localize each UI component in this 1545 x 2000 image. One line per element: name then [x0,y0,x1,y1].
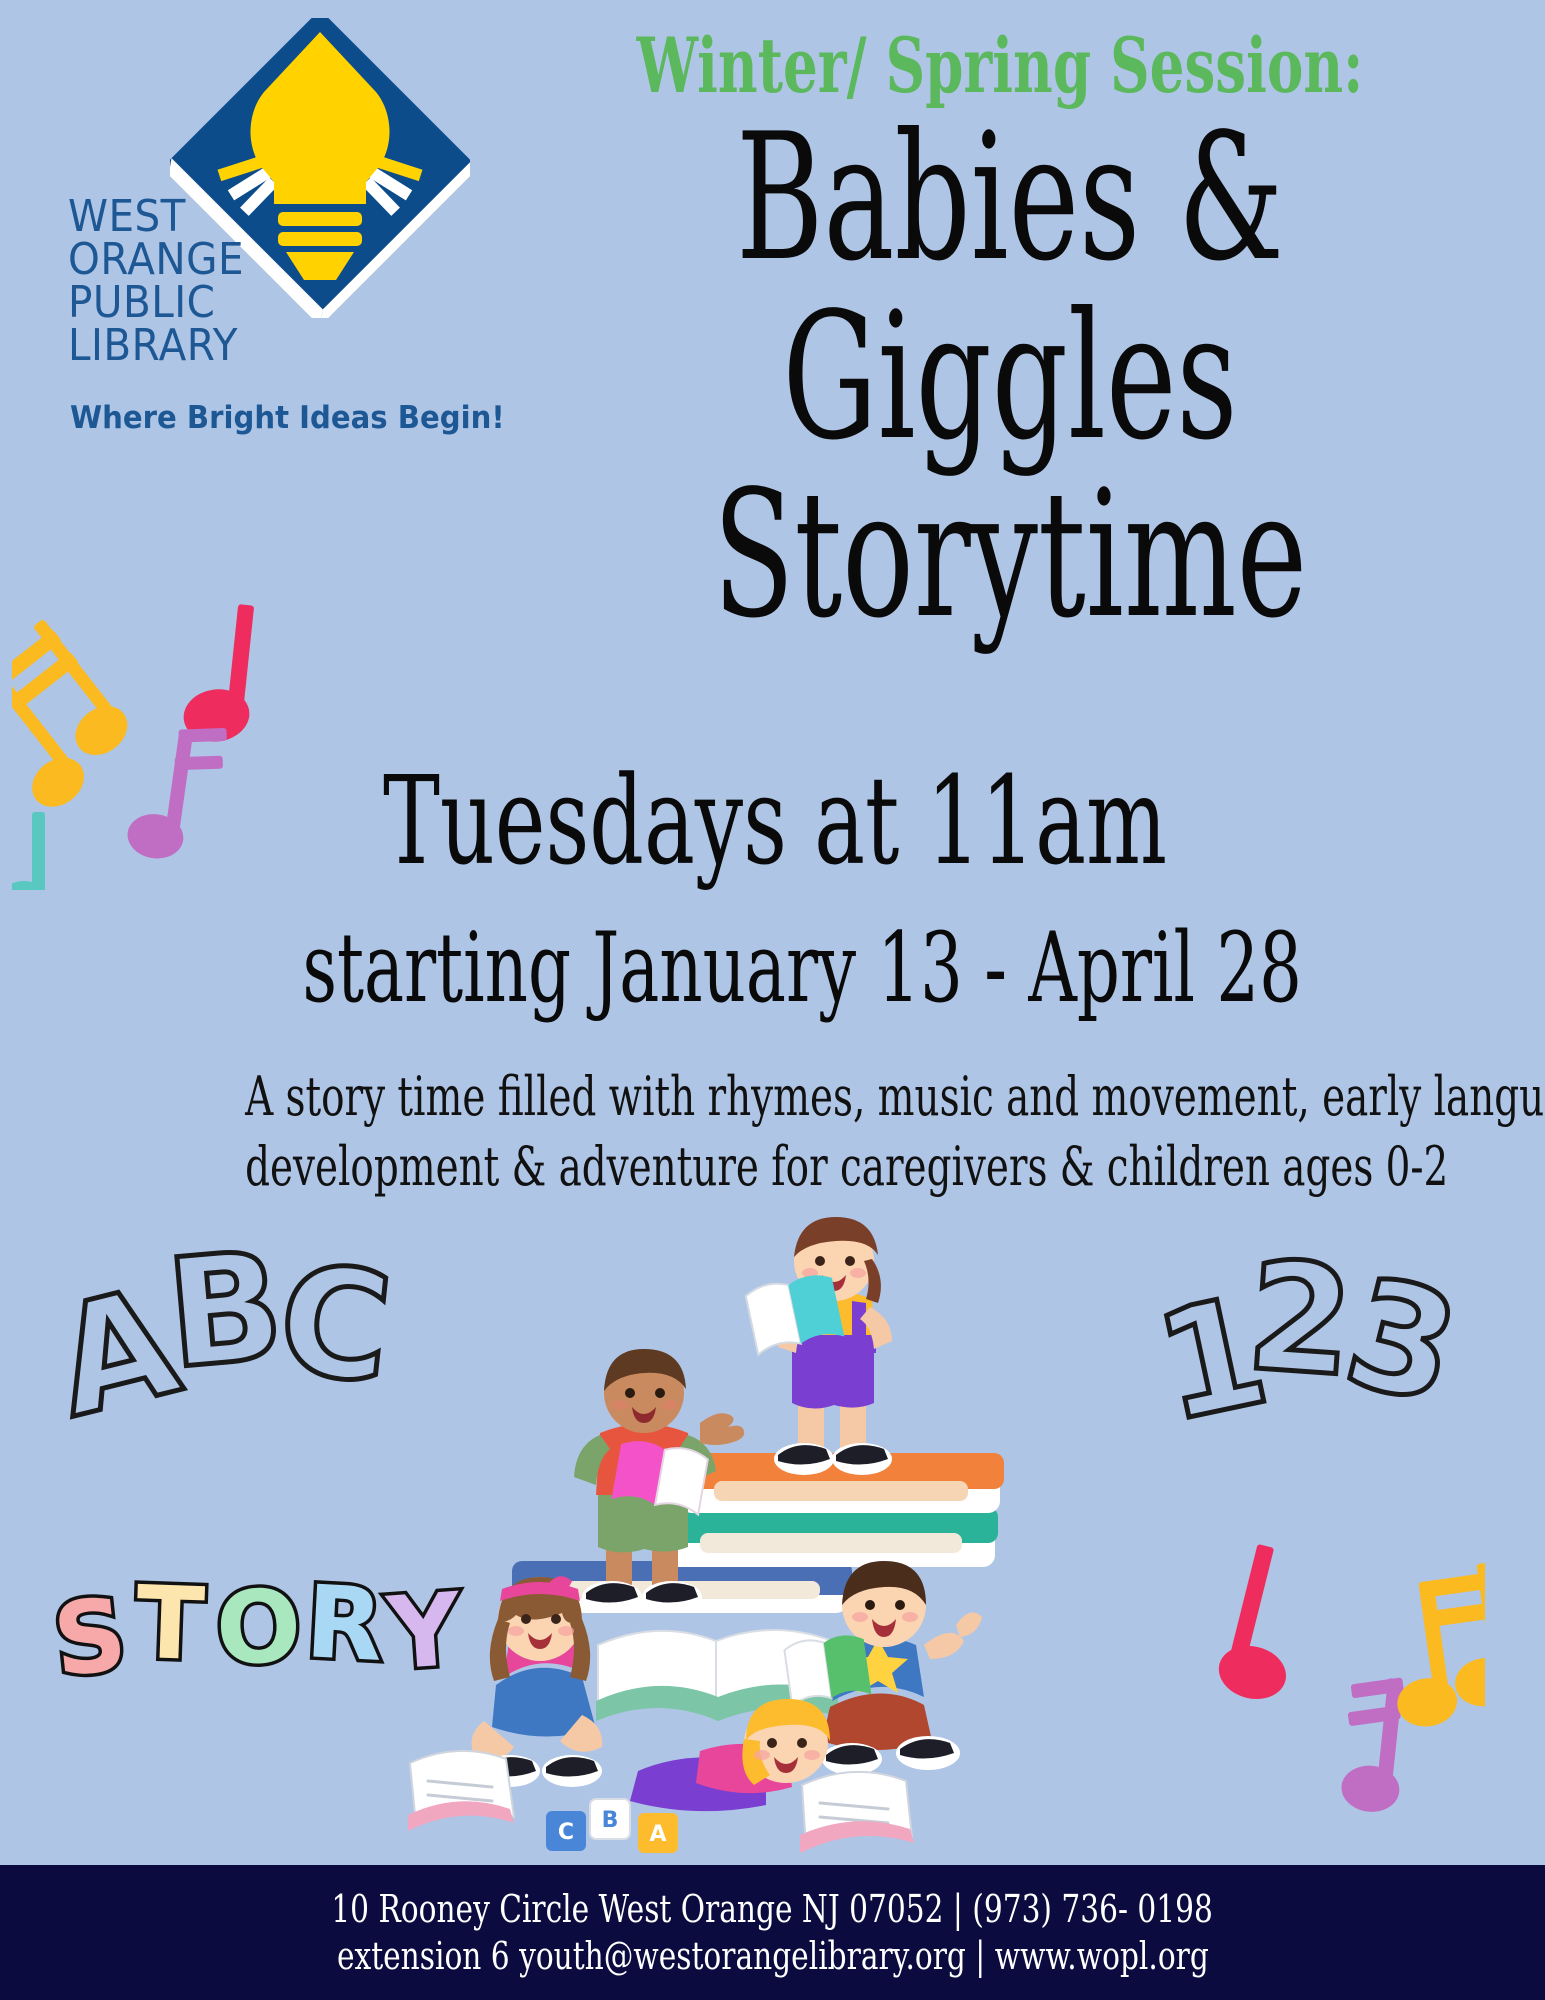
story-letter-s: S [49,1585,131,1692]
logo-tagline: Where Bright Ideas Begin! [70,400,505,436]
schedule-dates: starting January 13 - April 28 [303,920,1248,1016]
svg-text:B: B [602,1808,619,1833]
logo-wordmark-line-3: PUBLIC [68,281,307,324]
schedule-time: Tuesdays at 11am [338,760,1213,882]
svg-text:A: A [649,1822,666,1847]
music-notes-cluster-right [1185,1535,1485,1835]
logo-wordmark-line-4: LIBRARY [68,324,307,367]
program-description-line-2: development & adventure for caregivers &… [245,1132,1300,1202]
abc-letter-b: B [162,1231,289,1390]
story-letter-o: O [214,1577,302,1680]
abc-letter-c: C [272,1245,397,1406]
music-notes-cluster-left [12,590,262,890]
footer-address-phone: 10 Rooney Circle West Orange NJ 07052 | … [332,1888,1214,1931]
session-label: Winter/ Spring Session: [626,28,1375,104]
program-description: A story time filled with rhymes, music a… [40,1062,1505,1202]
flyer-canvas: WEST ORANGE PUBLIC LIBRARY Where Bright … [0,0,1545,2000]
open-book-bottom-left [408,1751,514,1831]
svg-text:C: C [558,1820,574,1845]
abc-decoration: A B C [58,1230,358,1430]
program-description-line-1: A story time filled with rhymes, music a… [245,1062,1300,1132]
library-logo: WEST ORANGE PUBLIC LIBRARY Where Bright … [60,10,480,450]
page-title: Babies & Giggles Storytime [500,110,1520,646]
children-reading-illustration: C B A [400,1215,1100,1855]
story-letter-r: R [303,1572,385,1676]
logo-wordmark: WEST ORANGE PUBLIC LIBRARY [68,195,328,367]
numbers-decoration: 1 2 3 [1160,1245,1450,1440]
logo-wordmark-line-2: ORANGE [68,238,307,281]
page-title-line-3: Storytime [663,467,1357,646]
page-title-line-1: Babies & [663,110,1357,289]
story-letter-t: T [134,1573,206,1675]
footer-contact-bar: 10 Rooney Circle West Orange NJ 07052 | … [0,1865,1545,2000]
open-book-bottom-right [800,1772,914,1853]
child-standing-purple [744,1217,892,1475]
logo-wordmark-line-1: WEST [68,195,307,238]
page-title-line-2: Giggles [663,289,1357,468]
footer-email-website: extension 6 youth@westorangelibrary.org … [337,1935,1209,1978]
